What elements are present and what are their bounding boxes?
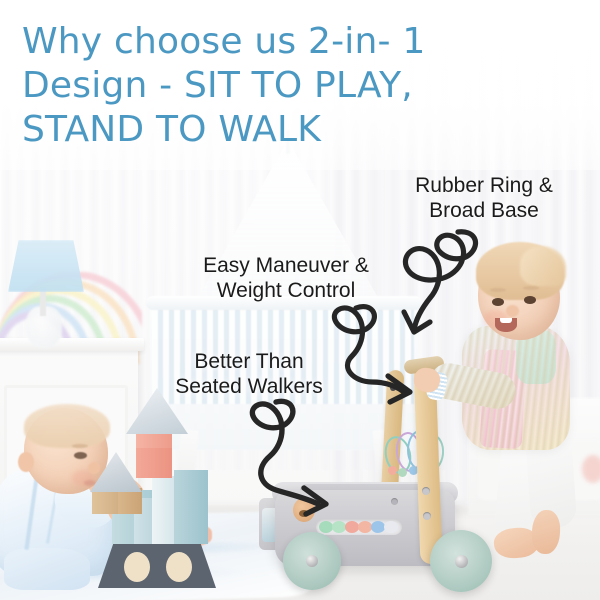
callout-rubber-ring: Rubber Ring & Broad Base: [372, 174, 596, 224]
walker-wheel-hub-right: [455, 555, 468, 568]
sitting-baby-nose: [88, 462, 100, 474]
sitting-baby-leg: [4, 548, 90, 590]
page-title: Why choose us 2-in- 1 Design - SIT TO PL…: [22, 20, 462, 152]
slider-bead-2: [332, 521, 346, 533]
sitting-baby-mouth: [84, 480, 96, 486]
callout-better-than-seated-line-1: Better Than: [150, 350, 348, 375]
block-base-dark: [98, 540, 216, 588]
callout-rubber-ring-line-2: Broad Base: [372, 199, 596, 224]
standing-toddler-eye-right: [524, 296, 536, 304]
callout-easy-maneuver-line-2: Weight Control: [178, 279, 394, 304]
pink-object: [582, 455, 600, 483]
dresser-top: [0, 338, 144, 351]
slider-bead-1: [319, 521, 333, 533]
standing-toddler-eyebrow-right: [523, 286, 539, 290]
sitting-baby-eyebrow: [72, 444, 88, 448]
block-tower-right: [174, 470, 208, 544]
callout-rubber-ring-line-1: Rubber Ring &: [372, 174, 596, 199]
callout-easy-maneuver-line-1: Easy Maneuver &: [178, 254, 394, 279]
headline-line-2: Design - SIT TO PLAY,: [22, 64, 462, 108]
block-tower-middle: [152, 476, 174, 544]
slider-bead-4: [358, 521, 372, 533]
block-arch-left: [124, 552, 150, 582]
block-salmon-1: [136, 448, 172, 478]
ring-bead-2: [398, 468, 407, 477]
curly-arrow-down-right-icon-2: [234, 396, 340, 518]
sitting-baby-ear: [18, 452, 34, 472]
walker-handle-screw-1: [422, 487, 430, 495]
standing-toddler-hair-sweep: [520, 246, 566, 286]
slider-bead-3: [345, 521, 359, 533]
sitting-baby-hair: [24, 404, 110, 448]
lamp-neck: [40, 288, 46, 316]
standing-toddler-teeth: [500, 318, 512, 323]
walker-body-screw: [391, 498, 398, 505]
slider-bead-6: [384, 521, 398, 533]
walker-handle-screw-2: [423, 512, 431, 520]
headline-line-1: Why choose us 2-in- 1: [22, 20, 462, 64]
standing-toddler-nose: [506, 305, 519, 317]
slider-bead-5: [371, 521, 385, 533]
headline-line-3: STAND TO WALK: [22, 108, 462, 152]
infographic-canvas: Why choose us 2-in- 1 Design - SIT TO PL…: [0, 0, 600, 600]
ring-bead-1: [388, 466, 397, 475]
callout-easy-maneuver: Easy Maneuver & Weight Control: [178, 254, 394, 304]
callout-better-than-seated: Better Than Seated Walkers: [150, 350, 348, 400]
lamp-shade: [8, 240, 84, 292]
sitting-baby-eye: [74, 452, 87, 459]
walker-wheel-hub-left: [306, 555, 318, 567]
block-arch-right: [166, 552, 192, 582]
